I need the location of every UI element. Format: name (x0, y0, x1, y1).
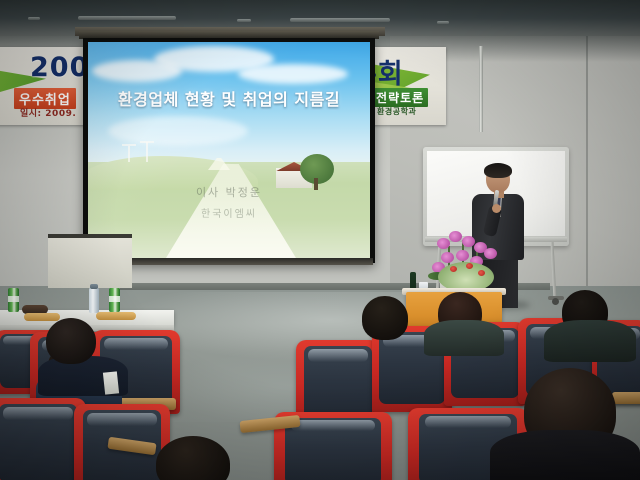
attendee-shoulders (424, 320, 504, 356)
wall-pipe (479, 46, 483, 132)
seat-gloss (308, 349, 368, 362)
banner-date: 일시: 2009. (20, 106, 76, 119)
seat-gloss (425, 416, 511, 428)
screen-glare (88, 42, 370, 258)
orchid-flower-icon (456, 250, 469, 261)
seminar-hall-photo: 200 수회 우수취업 강전략토론 일시: 2009. 학교 환경공학과 환경업… (0, 0, 640, 480)
seat-armrest (612, 392, 640, 404)
attendee-head (362, 296, 408, 340)
ceiling-light-fixture (28, 17, 40, 20)
orchid-flower-icon (462, 236, 475, 247)
bottle-cap (90, 284, 98, 289)
attendee-shoulders (544, 320, 636, 362)
orchid-flower-icon (441, 252, 454, 263)
seat-gloss (104, 338, 167, 350)
orchid-flower-icon (449, 231, 462, 242)
seat-gloss (291, 420, 376, 431)
snack-plate (96, 312, 136, 320)
orchid-flower-icon (437, 238, 450, 249)
whiteboard-caster (552, 298, 559, 305)
ceiling-light-fixture (437, 21, 449, 24)
attendee-head (46, 318, 96, 364)
wall-corner (586, 36, 588, 286)
beverage-can-band (8, 296, 19, 302)
seat-gloss (3, 407, 72, 420)
projection-screen: 환경업체 현황 및 취업의 지름길 이사 박정운 한국이엠씨 (88, 42, 370, 258)
seat-gloss (87, 413, 156, 426)
podium-flower (466, 263, 473, 269)
water-bottle-icon (89, 287, 99, 313)
podium-flower (450, 266, 457, 272)
snack-plate (24, 313, 60, 321)
handout-paper (103, 371, 119, 394)
orchid-flower-icon (484, 248, 497, 259)
presenter-hair (484, 163, 512, 178)
banner-year: 200 (30, 52, 89, 83)
ceiling-light-fixture (237, 19, 251, 22)
podium-flower (478, 270, 485, 276)
attendee-shoulders (490, 430, 640, 480)
ceiling-light-fixture (78, 16, 176, 20)
wall-cabinet (48, 234, 132, 288)
presenter-hand (492, 204, 501, 213)
beverage-can-band (109, 296, 120, 302)
ceiling-light-fixture (290, 18, 390, 22)
